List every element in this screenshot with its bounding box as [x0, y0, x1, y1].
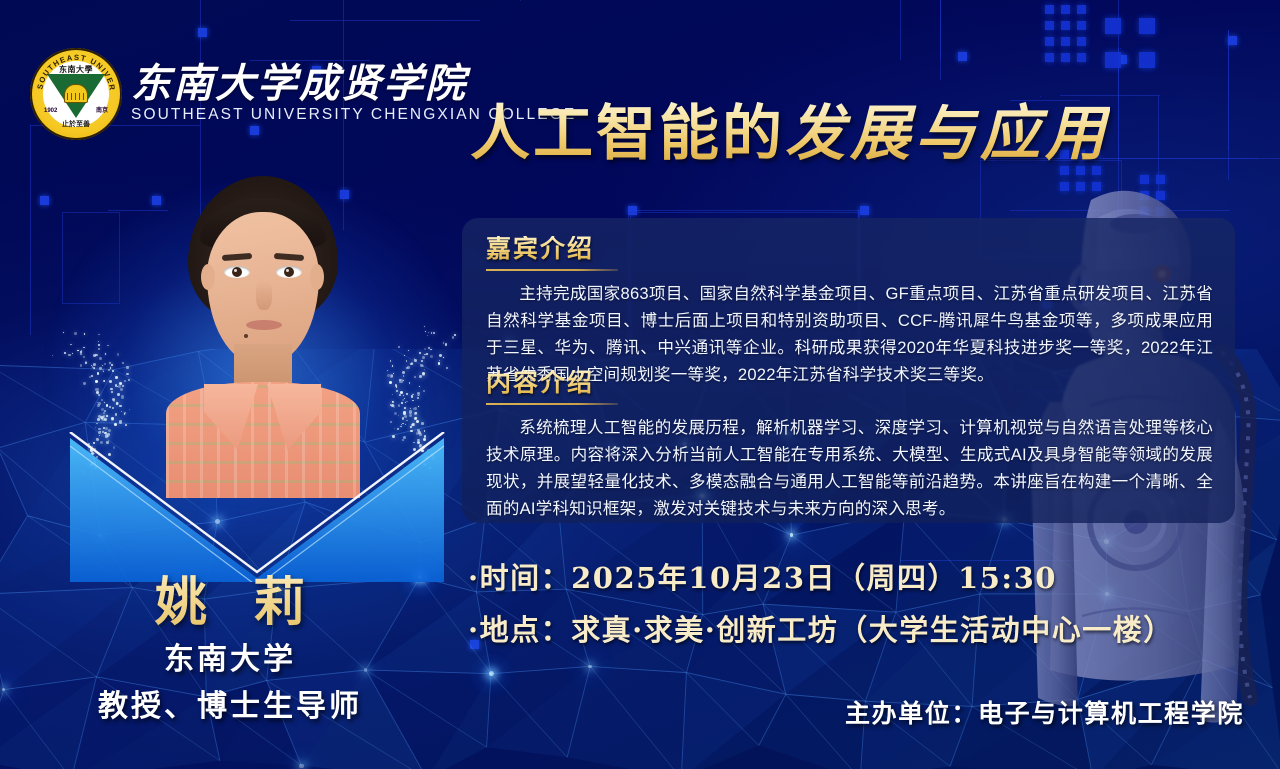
guest-intro-heading: 嘉宾介绍 [486, 236, 594, 261]
logo-chinese-name: 东南大学成贤学院 [131, 64, 576, 104]
guest-intro-rule [486, 269, 618, 271]
speaker-title: 教授、博士生导师 [0, 681, 460, 725]
title-part-1: 人工智能的 [470, 99, 785, 169]
emblem-arc-text: SOUTHEAST UNIVERSITY [30, 48, 122, 140]
organizer-line: 主办单位：电子与计算机工程学院 [845, 694, 1244, 730]
university-emblem-icon: 东南大學 1902 南京 止於至善 SOUTHEAST UNIVERSITY [30, 48, 122, 140]
event-time: ·时间：2025年10月23日（周四）15:30 [468, 555, 1057, 597]
mole [244, 334, 248, 338]
ear-right [310, 264, 324, 290]
speaker-portrait [52, 150, 462, 570]
content-intro-body: 系统梳理人工智能的发展历程，解析机器学习、深度学习、计算机视觉与自然语言处理等核… [486, 415, 1213, 523]
speaker-affiliation: 东南大学 [0, 640, 460, 680]
title-part-2: 发展与应用 [785, 99, 1110, 169]
nose [256, 280, 272, 310]
page-title: 人工智能的发展与应用 [470, 104, 1260, 164]
speaker-name: 姚 莉 [0, 560, 460, 635]
content-intro-section: 内容介绍 系统梳理人工智能的发展历程，解析机器学习、深度学习、计算机视觉与自然语… [486, 370, 1213, 523]
mouth [246, 320, 282, 330]
content-intro-heading: 内容介绍 [486, 370, 594, 395]
guest-intro-section: 嘉宾介绍 主持完成国家863项目、国家自然科学基金项目、GF重点项目、江苏省重点… [486, 236, 1213, 389]
poster-canvas: 东南大學 1902 南京 止於至善 SOUTHEAST UNIVERSITY 东… [0, 0, 1280, 769]
svg-text:SOUTHEAST UNIVERSITY: SOUTHEAST UNIVERSITY [30, 48, 117, 92]
eye-right [276, 266, 302, 278]
ear-left [201, 264, 215, 290]
eye-left [224, 266, 250, 278]
event-location: ·地点：求真·求美·创新工坊（大学生活动中心一楼） [468, 607, 1174, 649]
info-panel: 嘉宾介绍 主持完成国家863项目、国家自然科学基金项目、GF重点项目、江苏省重点… [462, 218, 1235, 523]
content-intro-rule [486, 403, 618, 405]
